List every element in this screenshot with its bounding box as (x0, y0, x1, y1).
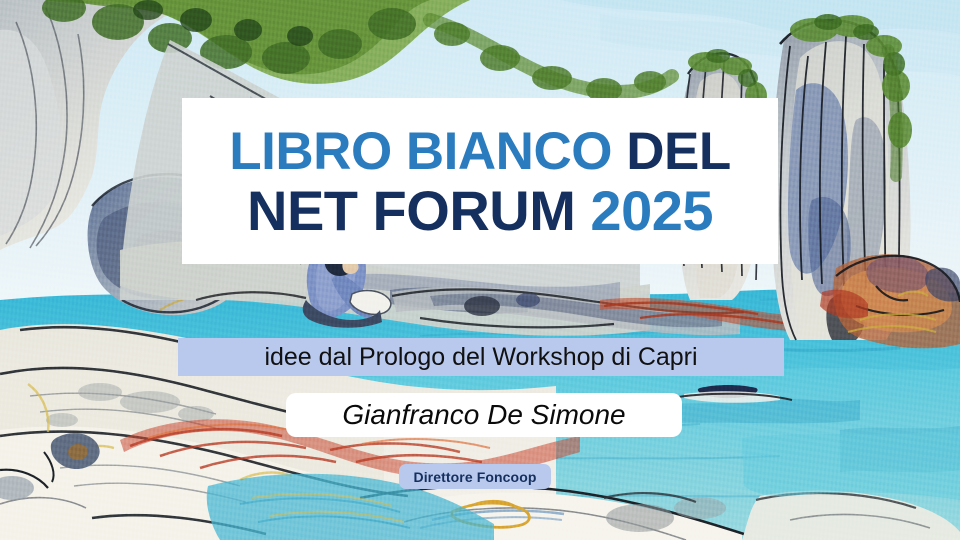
capri-watercolor-svg (0, 0, 960, 540)
author-name-pill: Gianfranco De Simone (286, 393, 682, 437)
title-part-libro-bianco: LIBRO BIANCO (229, 122, 612, 181)
subtitle-text: idee dal Prologo del Workshop di Capri (264, 345, 697, 370)
title-line-1: LIBRO BIANCO DEL (229, 125, 730, 179)
author-role-badge: Direttore Foncoop (399, 464, 551, 489)
title-part-year: 2025 (590, 179, 713, 242)
author-name: Gianfranco De Simone (342, 401, 625, 429)
background-illustration (0, 0, 960, 540)
author-role: Direttore Foncoop (413, 470, 536, 484)
title-part-net-forum: NET FORUM (247, 179, 575, 242)
title-panel: LIBRO BIANCO DEL NET FORUM 2025 (182, 98, 778, 264)
title-line-2: NET FORUM 2025 (247, 182, 713, 239)
subtitle-band: idee dal Prologo del Workshop di Capri (178, 338, 784, 376)
title-part-del: DEL (626, 122, 731, 181)
presentation-slide: LIBRO BIANCO DEL NET FORUM 2025 idee dal… (0, 0, 960, 540)
